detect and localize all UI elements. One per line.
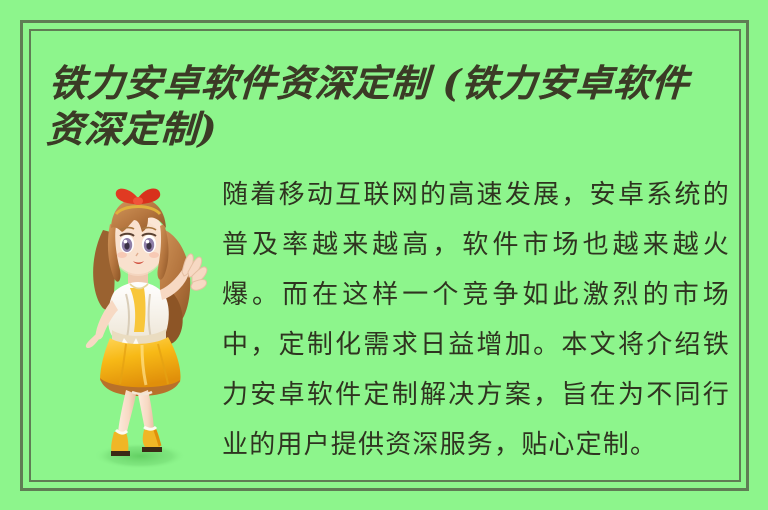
anime-girl-icon	[56, 168, 216, 480]
article-content: 随着移动互联网的高速发展，安卓系统的普及率越来越高，软件市场也越来越火爆。而在这…	[38, 168, 730, 480]
illustration-anime-girl	[56, 168, 216, 480]
page-title: 铁力安卓软件资深定制 (铁力安卓软件资深定制)	[45, 60, 726, 152]
article-card: 铁力安卓软件资深定制 (铁力安卓软件资深定制)	[0, 0, 768, 510]
article-body: 随着移动互联网的高速发展，安卓系统的普及率越来越高，软件市场也越来越火爆。而在这…	[222, 170, 730, 478]
